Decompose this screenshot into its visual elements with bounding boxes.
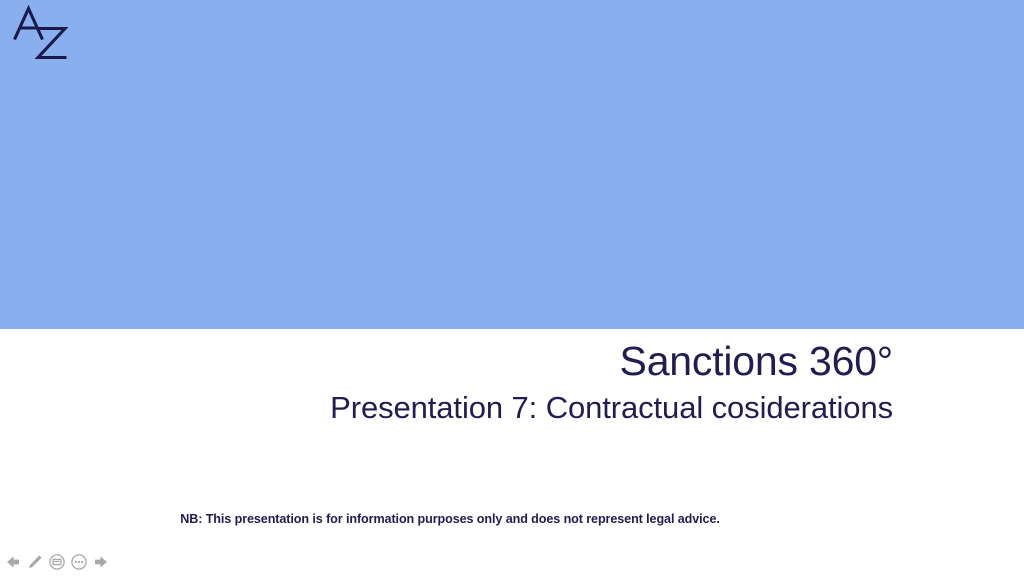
pencil-icon <box>26 553 44 571</box>
page-title: Sanctions 360° <box>0 340 893 383</box>
ellipsis-icon <box>70 553 88 571</box>
az-logo-icon <box>8 2 80 66</box>
disclaimer-text: NB: This presentation is for information… <box>0 512 1024 526</box>
slide-toolbar <box>2 551 112 573</box>
presentation-mode-button[interactable] <box>46 551 68 573</box>
more-options-button[interactable] <box>68 551 90 573</box>
next-slide-button[interactable] <box>90 551 112 573</box>
slide-canvas[interactable]: Sanctions 360° Presentation 7: Contractu… <box>0 0 1024 576</box>
arrow-left-icon <box>4 553 22 571</box>
title-block: Sanctions 360° Presentation 7: Contractu… <box>0 340 1024 425</box>
az-logo <box>8 2 80 66</box>
arrow-right-icon <box>92 553 110 571</box>
slide-banner <box>0 0 1024 329</box>
pen-tool-button[interactable] <box>24 551 46 573</box>
screen-icon <box>48 553 66 571</box>
page-subtitle: Presentation 7: Contractual cosideration… <box>0 391 893 424</box>
presentation-viewer: Sanctions 360° Presentation 7: Contractu… <box>0 0 1024 576</box>
previous-slide-button[interactable] <box>2 551 24 573</box>
